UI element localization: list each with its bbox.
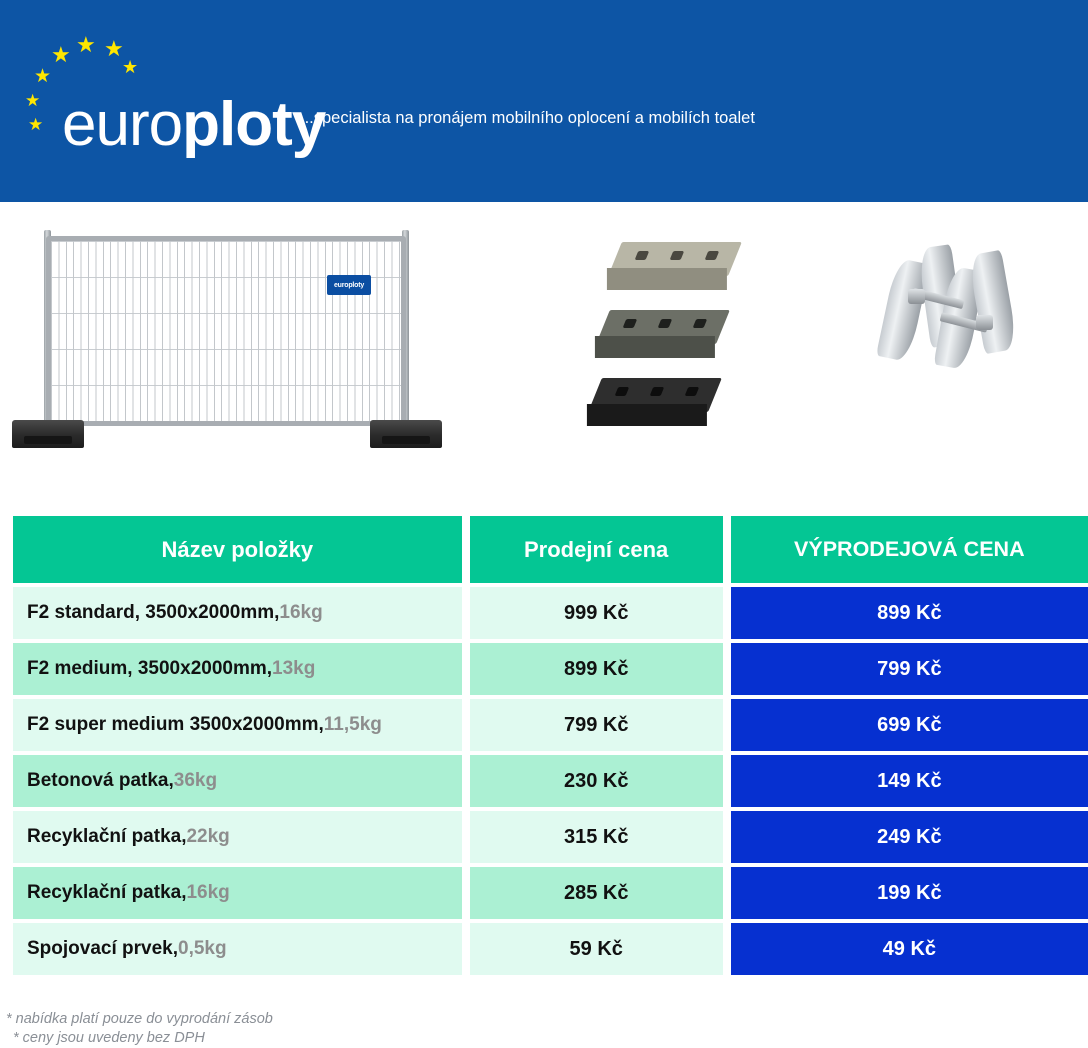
item-name-text: F2 standard, 3500x2000mm, — [27, 602, 279, 624]
column-divider — [462, 923, 470, 975]
footnote-vat: * ceny jsou uvedeny bez DPH — [6, 1029, 606, 1048]
fence-foot-right-icon — [370, 420, 442, 448]
cell-item-name: Spojovací prvek, 0,5kg — [13, 923, 462, 975]
fence-logo-sign: europloty — [327, 275, 371, 295]
table-row[interactable]: F2 medium, 3500x2000mm, 13kg 899 Kč 799 … — [13, 643, 1088, 695]
coupler-nut-icon — [976, 315, 993, 330]
cell-item-name: Betonová patka, 36kg — [13, 755, 462, 807]
column-divider — [462, 587, 470, 639]
coupler-wing-icon — [968, 250, 1019, 354]
cell-price: 230 Kč — [470, 755, 723, 807]
cell-sale-price: 249 Kč — [731, 811, 1088, 863]
recycled-base-block-black — [588, 378, 722, 412]
column-header-name: Název položky — [13, 516, 462, 583]
cell-sale-price: 149 Kč — [731, 755, 1088, 807]
coupler-image — [880, 242, 1020, 392]
footnote-stock: * nabídka platí pouze do vyprodání zásob — [6, 1010, 606, 1029]
table-row[interactable]: Betonová patka, 36kg 230 Kč 149 Kč — [13, 755, 1088, 807]
table-row[interactable]: Recyklační patka, 22kg 315 Kč 249 Kč — [13, 811, 1088, 863]
cell-sale-price: 199 Kč — [731, 867, 1088, 919]
cell-price: 315 Kč — [470, 811, 723, 863]
cell-item-name: Recyklační patka, 16kg — [13, 867, 462, 919]
item-name-text: Recyklační patka, — [27, 826, 186, 848]
column-divider — [723, 516, 731, 583]
logo-word-euro: euro — [62, 90, 182, 159]
cell-item-name: F2 super medium 3500x2000mm, 11,5kg — [13, 699, 462, 751]
item-name-text: Recyklační patka, — [27, 882, 186, 904]
fence-panel-image: europloty — [18, 230, 436, 445]
cell-sale-price: 49 Kč — [731, 923, 1088, 975]
table-header-row: Název položky Prodejní cena VÝPRODEJOVÁ … — [13, 516, 1088, 583]
product-image-strip: europloty — [0, 202, 1088, 502]
base-blocks-image — [595, 242, 760, 432]
column-divider — [723, 643, 731, 695]
column-divider — [462, 699, 470, 751]
item-weight-text: 13kg — [272, 658, 315, 680]
table-row[interactable]: Spojovací prvek, 0,5kg 59 Kč 49 Kč — [13, 923, 1088, 975]
header-tagline: ...specialista na pronájem mobilního opl… — [300, 109, 755, 128]
cell-item-name: F2 medium, 3500x2000mm, 13kg — [13, 643, 462, 695]
column-divider — [462, 643, 470, 695]
recycled-base-block-gray — [596, 310, 730, 344]
column-divider — [462, 811, 470, 863]
column-divider — [723, 867, 731, 919]
item-weight-text: 36kg — [174, 770, 217, 792]
column-header-price: Prodejní cena — [470, 516, 723, 583]
item-name-text: F2 medium, 3500x2000mm, — [27, 658, 272, 680]
cell-sale-price: 799 Kč — [731, 643, 1088, 695]
column-divider — [723, 923, 731, 975]
item-weight-text: 0,5kg — [178, 938, 227, 960]
fence-foot-left-icon — [12, 420, 84, 448]
cell-sale-price: 899 Kč — [731, 587, 1088, 639]
column-divider — [723, 699, 731, 751]
column-divider — [723, 811, 731, 863]
column-divider — [462, 755, 470, 807]
cell-sale-price: 699 Kč — [731, 699, 1088, 751]
cell-price: 999 Kč — [470, 587, 723, 639]
table-row[interactable]: F2 standard, 3500x2000mm, 16kg 999 Kč 89… — [13, 587, 1088, 639]
column-divider — [723, 587, 731, 639]
column-divider — [462, 867, 470, 919]
item-weight-text: 16kg — [279, 602, 322, 624]
concrete-base-block — [608, 242, 742, 276]
logo-wordmark: europloty — [62, 94, 325, 156]
cell-item-name: Recyklační patka, 22kg — [13, 811, 462, 863]
footnotes: * nabídka platí pouze do vyprodání zásob… — [6, 1010, 606, 1048]
column-header-sale-price: VÝPRODEJOVÁ CENA — [731, 516, 1088, 583]
item-name-text: Spojovací prvek, — [27, 938, 178, 960]
item-weight-text: 22kg — [186, 826, 229, 848]
page-header: ★ ★ ★ ★ ★ ★ ★ europloty ...specialista n… — [0, 0, 1088, 202]
table-row[interactable]: Recyklační patka, 16kg 285 Kč 199 Kč — [13, 867, 1088, 919]
cell-price: 799 Kč — [470, 699, 723, 751]
table-row[interactable]: F2 super medium 3500x2000mm, 11,5kg 799 … — [13, 699, 1088, 751]
cell-price: 285 Kč — [470, 867, 723, 919]
coupler-nut-icon — [908, 289, 925, 304]
europloty-logo[interactable]: ★ ★ ★ ★ ★ ★ ★ europloty — [20, 32, 320, 142]
item-name-text: F2 super medium 3500x2000mm, — [27, 714, 324, 736]
cell-price: 59 Kč — [470, 923, 723, 975]
column-divider — [462, 516, 470, 583]
column-divider — [723, 755, 731, 807]
item-weight-text: 16kg — [186, 882, 229, 904]
price-table: Název položky Prodejní cena VÝPRODEJOVÁ … — [13, 516, 1088, 975]
fence-mesh — [51, 241, 401, 421]
cell-price: 899 Kč — [470, 643, 723, 695]
item-weight-text: 11,5kg — [324, 714, 382, 736]
cell-item-name: F2 standard, 3500x2000mm, 16kg — [13, 587, 462, 639]
item-name-text: Betonová patka, — [27, 770, 174, 792]
